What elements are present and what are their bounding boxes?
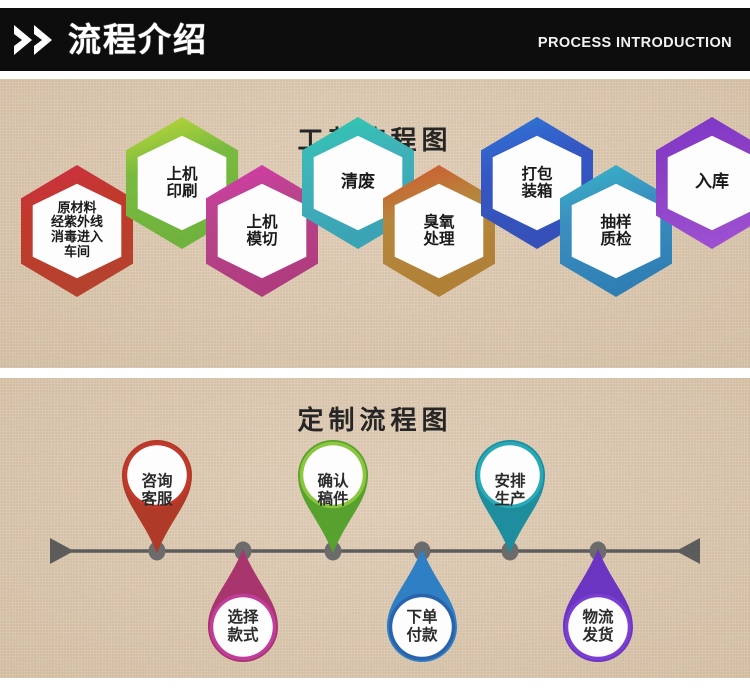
process-flow-panel: 工艺流程图 原材料经紫外线消毒进入车间 <box>0 79 750 368</box>
timeline-step-pin[interactable]: 确认稿件 <box>287 437 379 555</box>
timeline-step-pin[interactable]: 下单付款 <box>376 547 468 665</box>
custom-flow-panel: 定制流程图 咨询客服 选择款式 确认稿件 下单付款 <box>0 378 750 678</box>
page-header: 流程介绍 PROCESS INTRODUCTION <box>0 8 750 71</box>
timeline-step-pin[interactable]: 物流发货 <box>552 547 644 665</box>
timeline-step-pin[interactable]: 安排生产 <box>464 437 556 555</box>
page-subtitle: PROCESS INTRODUCTION <box>538 29 732 51</box>
timeline-step-pin[interactable]: 选择款式 <box>197 547 289 665</box>
hexagon-flow-diagram: 原材料经紫外线消毒进入车间 上机印刷 <box>0 79 750 368</box>
double-chevron-right-icon <box>12 23 60 57</box>
process-step-hexagon[interactable]: 原材料经紫外线消毒进入车间 <box>18 163 136 299</box>
timeline-diagram: 咨询客服 选择款式 确认稿件 下单付款 安排生产 <box>0 378 750 678</box>
timeline-step-pin[interactable]: 咨询客服 <box>111 437 203 555</box>
process-step-hexagon[interactable]: 入库 <box>653 115 750 251</box>
page-title: 流程介绍 <box>68 23 208 56</box>
